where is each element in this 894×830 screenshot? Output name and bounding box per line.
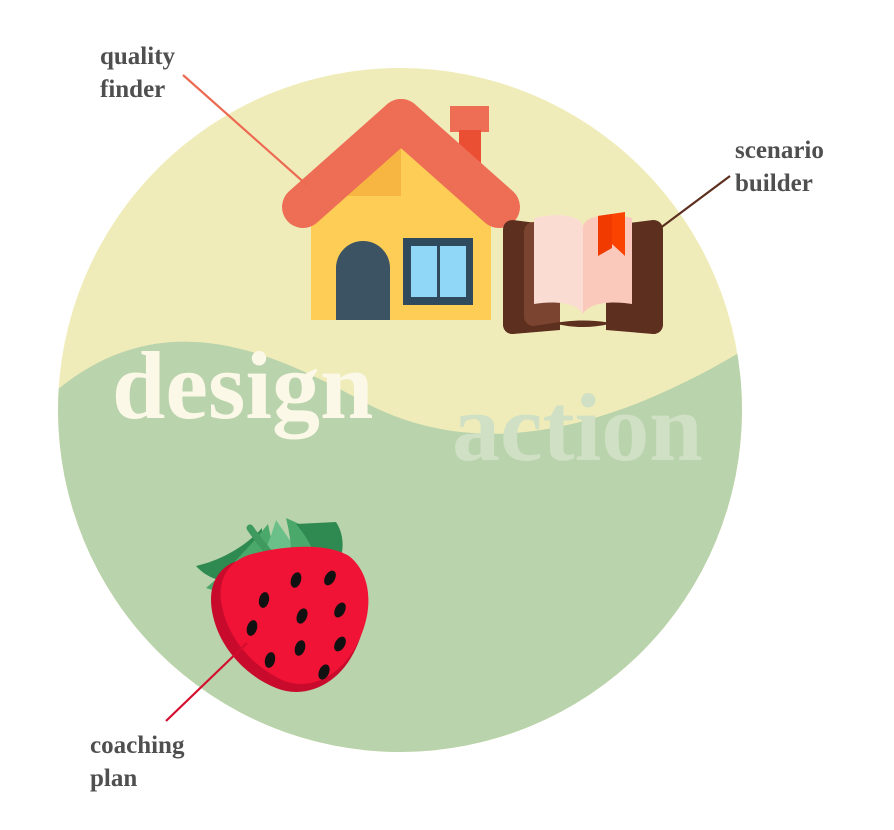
watermark-action: action [452,374,703,481]
callout-coaching-plan-line1: coaching [90,732,184,759]
callout-scenario-builder-line2: builder [735,167,824,200]
callout-coaching-plan-line2: plan [90,762,184,795]
house-window-pane-right [440,246,466,297]
callout-scenario-builder-line1: scenario [735,137,824,164]
house-window-pane-left [411,246,437,297]
house-door[interactable] [336,241,390,320]
diagram-stage: design action [0,0,894,830]
callout-scenario-builder[interactable]: scenario builder [735,134,824,200]
book-page-left [534,215,583,314]
house-chimney-cap [450,106,489,132]
callout-quality-finder[interactable]: quality finder [100,40,175,106]
callout-coaching-plan[interactable]: coaching plan [90,729,184,795]
callout-quality-finder-line2: finder [100,73,175,106]
diagram-canvas: design action [0,0,894,830]
watermark-design: design [112,332,373,439]
callout-quality-finder-line1: quality [100,43,175,70]
